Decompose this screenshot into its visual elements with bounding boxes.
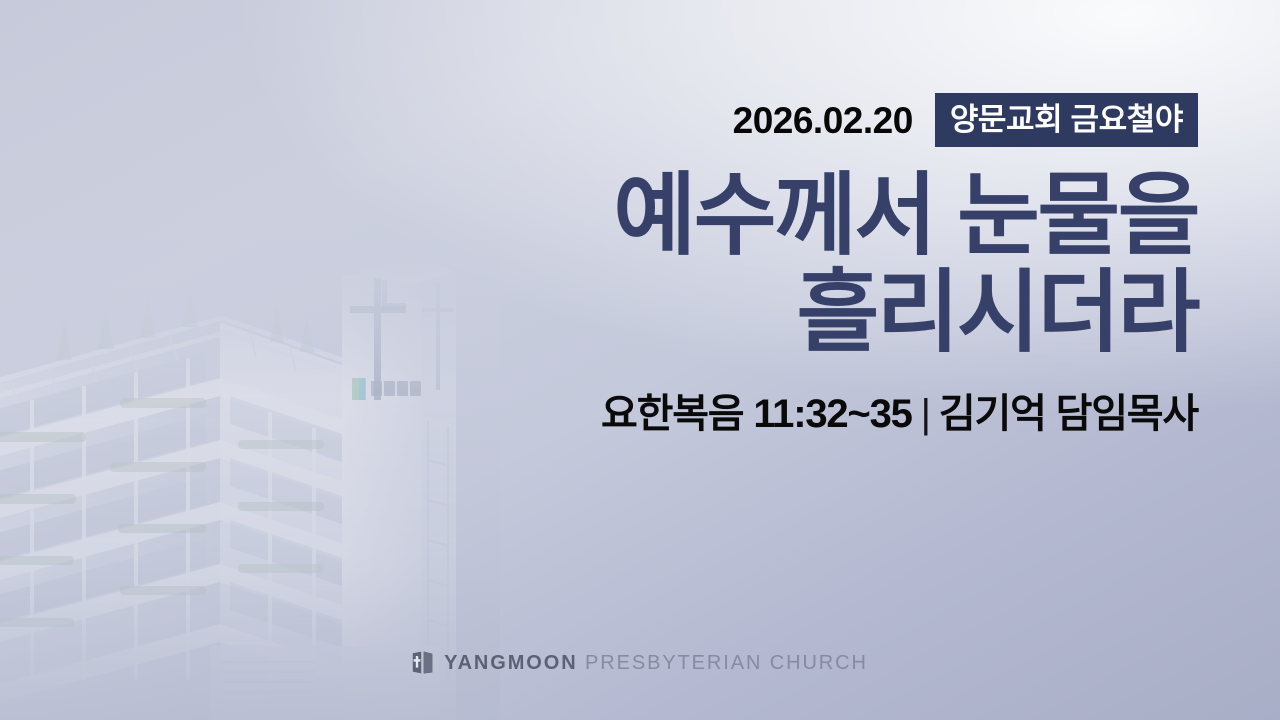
service-badge: 양문교회 금요철야 [935, 93, 1198, 147]
church-name-light: PRESBYTERIAN CHURCH [585, 652, 868, 674]
subtitle-row: 요한복음 11:32~35|김기억 담임목사 [438, 392, 1198, 436]
church-logo: YANGMOON PRESBYTERIAN CHURCH [0, 651, 1280, 674]
kicker-row: 2026.02.20 양문교회 금요철야 [438, 92, 1198, 148]
sermon-title-slide: 2026.02.20 양문교회 금요철야 예수께서 눈물을 흘리시더라 요한복음… [0, 0, 1280, 720]
page-title: 예수께서 눈물을 흘리시더라 [438, 168, 1198, 362]
service-date: 2026.02.20 [733, 102, 913, 139]
church-building-photo [0, 250, 490, 720]
speaker-name: 김기억 담임목사 [939, 392, 1198, 436]
title-line-1: 예수께서 눈물을 [438, 168, 1198, 265]
church-name: YANGMOON PRESBYTERIAN CHURCH [444, 653, 868, 673]
open-bible-cross-icon [412, 651, 433, 674]
scripture-reference: 요한복음 11:32~35 [601, 392, 912, 436]
title-line-2: 흘리시더라 [438, 265, 1198, 362]
church-name-bold: YANGMOON [444, 652, 577, 674]
subtitle-separator: | [921, 392, 930, 436]
slide-content: 2026.02.20 양문교회 금요철야 예수께서 눈물을 흘리시더라 요한복음… [438, 92, 1198, 436]
